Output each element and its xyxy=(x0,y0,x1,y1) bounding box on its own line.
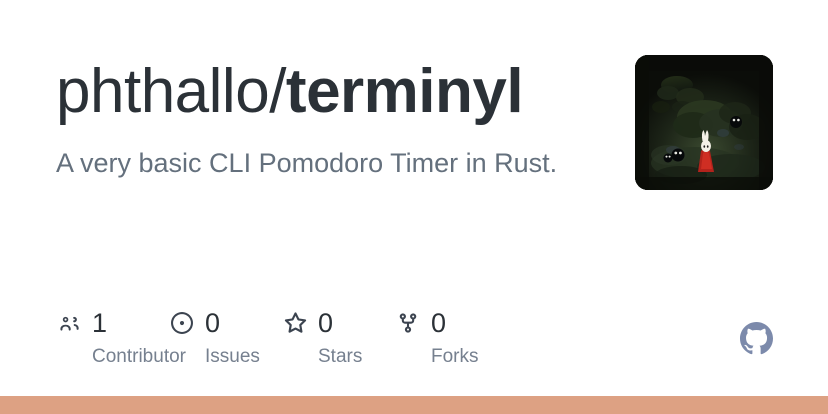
repo-forked-icon xyxy=(395,310,421,336)
repository-avatar-image xyxy=(635,55,773,190)
star-icon xyxy=(282,310,308,336)
repo-name: terminyl xyxy=(286,57,523,126)
stat-contributors: 1 Contributor xyxy=(56,308,169,369)
stat-contributors-value: 1 xyxy=(92,308,107,338)
stat-issues-top: 0 xyxy=(169,308,220,338)
stat-stars: 0 Stars xyxy=(282,308,395,369)
repo-description: A very basic CLI Pomodoro Timer in Rust. xyxy=(56,145,557,181)
stat-stars-label: Stars xyxy=(318,345,362,369)
stat-forks-label: Forks xyxy=(431,345,479,369)
stat-stars-value: 0 xyxy=(318,308,333,338)
repo-owner: phthallo xyxy=(56,57,269,126)
issue-opened-icon xyxy=(169,310,195,336)
stat-forks-value: 0 xyxy=(431,308,446,338)
accent-bar xyxy=(0,396,828,414)
stat-stars-top: 0 xyxy=(282,308,333,338)
repository-stats: 1 Contributor 0 Issues xyxy=(56,308,508,369)
stat-forks: 0 Forks xyxy=(395,308,508,369)
avatar-artwork-icon xyxy=(635,55,773,190)
github-mark-icon xyxy=(740,322,773,355)
stat-forks-top: 0 xyxy=(395,308,446,338)
repo-separator: / xyxy=(269,57,286,126)
page-title: phthallo/terminyl xyxy=(56,52,523,132)
repository-social-card: phthallo/terminyl A very basic CLI Pomod… xyxy=(0,0,828,414)
stat-issues-label: Issues xyxy=(205,345,260,369)
stat-contributors-top: 1 xyxy=(56,308,107,338)
people-icon xyxy=(56,310,82,336)
stat-issues: 0 Issues xyxy=(169,308,282,369)
stat-issues-value: 0 xyxy=(205,308,220,338)
card-header: phthallo/terminyl A very basic CLI Pomod… xyxy=(0,0,828,250)
